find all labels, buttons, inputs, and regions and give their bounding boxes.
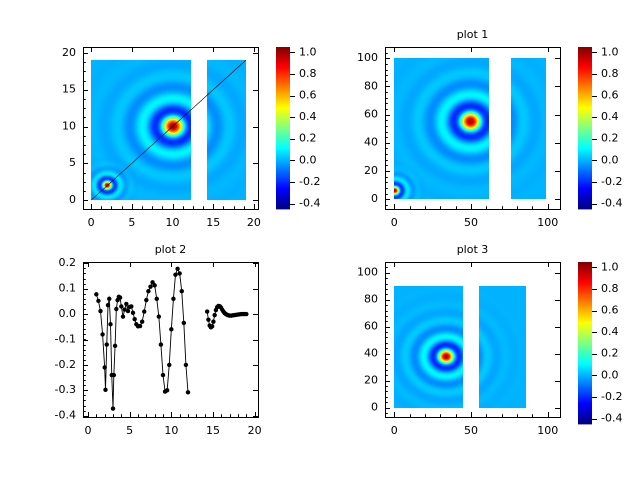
figure-canvas-container: plot 1 plot 2 plot 3	[0, 0, 640, 480]
colorbar-plot-0[interactable]	[276, 47, 290, 209]
subplot-axes-plot-1[interactable]	[385, 47, 560, 209]
subplot-axes-plot-0[interactable]	[83, 47, 258, 209]
colorbar-plot-3[interactable]	[578, 262, 592, 424]
colorbar-plot-1[interactable]	[578, 47, 592, 209]
subplot-axes-plot-2[interactable]	[83, 262, 258, 417]
subplot-axes-plot-3[interactable]	[385, 262, 560, 417]
